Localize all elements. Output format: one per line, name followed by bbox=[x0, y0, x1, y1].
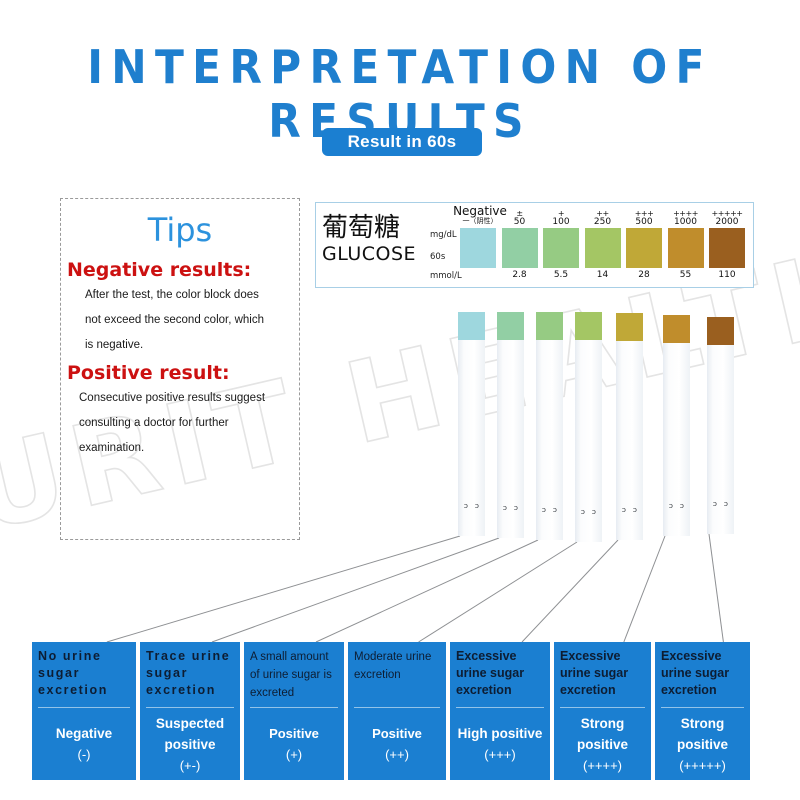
connector-line bbox=[316, 540, 538, 642]
chart-swatch-row: Negative一（阴性）±502.8+1005.5++25014+++5002… bbox=[460, 207, 748, 283]
tips-negative-line-2: not exceed the second color, which bbox=[85, 308, 289, 333]
chart-analyte-name: 葡萄糖 GLUCOSE bbox=[322, 213, 432, 265]
result-box[interactable]: Excessive urine sugar excretionHigh posi… bbox=[450, 642, 550, 780]
chart-color-swatch bbox=[626, 228, 662, 268]
chart-mgdl-value: 250 bbox=[594, 218, 611, 227]
test-strip-mark-glyph: ɔ bbox=[713, 501, 717, 508]
result-box-description: Excessive urine sugar excretion bbox=[661, 648, 744, 704]
tips-negative-body: After the test, the color block does not… bbox=[85, 283, 289, 358]
chart-mmoll-value: 55 bbox=[668, 268, 704, 282]
tips-positive-heading: Positive result: bbox=[67, 362, 299, 384]
test-strip-pad bbox=[663, 315, 690, 343]
test-strip-pad bbox=[458, 312, 485, 340]
chart-swatch-column: ++25014 bbox=[585, 207, 621, 283]
chart-row-label-mmoll: mmol/L bbox=[430, 271, 462, 281]
result-box-verdict-label: Strong positive bbox=[661, 713, 744, 755]
test-strip-pad bbox=[616, 313, 643, 341]
test-strip: ɔɔ bbox=[458, 312, 485, 536]
result-box[interactable]: Excessive urine sugar excretionStrong po… bbox=[554, 642, 651, 780]
chart-color-swatch bbox=[668, 228, 704, 268]
chart-mgdl-value: 2000 bbox=[716, 218, 739, 227]
connector-line bbox=[624, 536, 665, 642]
chart-swatch-column: Negative一（阴性） bbox=[460, 207, 496, 283]
connector-line bbox=[709, 534, 723, 642]
test-strip-mark-glyph: ɔ bbox=[669, 503, 673, 510]
result-interpretation-page: URIT HEALTHY STORE INTERPRETATION OF RES… bbox=[0, 0, 800, 800]
chart-mmoll-value: 110 bbox=[709, 268, 745, 282]
result-box-divider bbox=[661, 707, 744, 708]
test-strip-mark-glyph: ɔ bbox=[553, 507, 557, 514]
result-box-sign: (++) bbox=[385, 744, 409, 765]
test-strip-marks: ɔɔ bbox=[497, 505, 524, 512]
result-box-description: Excessive urine sugar excretion bbox=[456, 648, 544, 704]
result-box-verdict: Strong positive(+++++) bbox=[661, 712, 744, 776]
result-box-description: Excessive urine sugar excretion bbox=[560, 648, 645, 704]
result-box-verdict-label: High positive bbox=[458, 723, 543, 744]
result-box-divider bbox=[456, 707, 544, 708]
test-strip: ɔɔ bbox=[663, 315, 690, 536]
test-strip: ɔɔ bbox=[497, 312, 524, 538]
result-box-divider bbox=[560, 707, 645, 708]
chart-color-swatch bbox=[460, 228, 496, 268]
result-box-verdict-label: Negative bbox=[56, 723, 112, 744]
chart-swatch-header: ±50 bbox=[502, 207, 538, 228]
chart-analyte-name-en: GLUCOSE bbox=[322, 243, 432, 265]
chart-mmoll-value bbox=[460, 268, 496, 282]
test-strip-pad bbox=[536, 312, 563, 340]
tips-negative-heading: Negative results: bbox=[67, 259, 299, 281]
test-strip-marks: ɔɔ bbox=[575, 509, 602, 516]
tips-positive-line-2: consulting a doctor for further bbox=[79, 411, 289, 436]
result-box-sign: (-) bbox=[78, 744, 91, 765]
test-strip-marks: ɔɔ bbox=[663, 503, 690, 510]
result-box-divider bbox=[354, 707, 440, 708]
tips-panel: Tips Negative results: After the test, t… bbox=[60, 198, 300, 540]
chart-color-swatch bbox=[585, 228, 621, 268]
result-box-divider bbox=[250, 707, 338, 708]
chart-swatch-column: +++50028 bbox=[626, 207, 662, 283]
test-strip: ɔɔ bbox=[536, 312, 563, 540]
result-box-verdict: Negative(-) bbox=[38, 712, 130, 776]
result-box-description: Moderate urine excretion bbox=[354, 648, 440, 704]
result-box-sign: (++++) bbox=[583, 755, 622, 776]
test-strip: ɔɔ bbox=[616, 313, 643, 540]
result-box-verdict: Suspected positive(+-) bbox=[146, 712, 234, 776]
chart-mmoll-value: 2.8 bbox=[502, 268, 538, 282]
chart-mmoll-value: 14 bbox=[585, 268, 621, 282]
result-box-verdict: Positive(+) bbox=[250, 712, 338, 776]
test-strip: ɔɔ bbox=[707, 317, 734, 534]
glucose-color-chart: 葡萄糖 GLUCOSE mg/dL 60s mmol/L Negative一（阴… bbox=[315, 202, 754, 288]
test-strip: ɔɔ bbox=[575, 312, 602, 542]
chart-swatch-header: ++++1000 bbox=[668, 207, 704, 228]
result-box-verdict: Strong positive(++++) bbox=[560, 712, 645, 776]
tips-negative-line-1: After the test, the color block does bbox=[85, 283, 289, 308]
tips-negative-line-3: is negative. bbox=[85, 333, 289, 358]
tips-positive-line-3: examination. bbox=[79, 436, 289, 461]
chart-swatch-column: ++++100055 bbox=[668, 207, 704, 283]
result-box-sign: (+) bbox=[286, 744, 302, 765]
chart-swatch-header: ++250 bbox=[585, 207, 621, 228]
result-box-divider bbox=[146, 707, 234, 708]
chart-swatch-column: +++++2000110 bbox=[709, 207, 745, 283]
test-strip-mark-glyph: ɔ bbox=[475, 503, 479, 510]
result-box[interactable]: Moderate urine excretionPositive(++) bbox=[348, 642, 446, 780]
test-strip-mark-glyph: ɔ bbox=[633, 507, 637, 514]
result-box-verdict-label: Positive bbox=[372, 723, 422, 744]
chart-swatch-column: ±502.8 bbox=[502, 207, 538, 283]
result-box-verdict-label: Positive bbox=[269, 723, 319, 744]
result-box-description: Trace urine sugar excretion bbox=[146, 648, 234, 704]
result-box-sign: (+++++) bbox=[679, 755, 726, 776]
test-strip-marks: ɔɔ bbox=[536, 507, 563, 514]
test-strip-mark-glyph: ɔ bbox=[680, 503, 684, 510]
chart-color-swatch bbox=[709, 228, 745, 268]
chart-mmoll-value: 28 bbox=[626, 268, 662, 282]
test-strip-mark-glyph: ɔ bbox=[592, 509, 596, 516]
test-strip-mark-glyph: ɔ bbox=[724, 501, 728, 508]
chart-mgdl-value: 50 bbox=[514, 218, 525, 227]
chart-swatch-header: Negative一（阴性） bbox=[460, 207, 496, 228]
test-strip-mark-glyph: ɔ bbox=[503, 505, 507, 512]
test-strip-marks: ɔɔ bbox=[616, 507, 643, 514]
result-box-description: A small amount of urine sugar is excrete… bbox=[250, 648, 338, 704]
result-box-sign: (+-) bbox=[180, 755, 201, 776]
test-strip-marks: ɔɔ bbox=[707, 501, 734, 508]
test-strip-mark-glyph: ɔ bbox=[542, 507, 546, 514]
chart-mgdl-value: 500 bbox=[635, 218, 652, 227]
test-strip-mark-glyph: ɔ bbox=[581, 509, 585, 516]
chart-analyte-name-cn: 葡萄糖 bbox=[322, 213, 432, 243]
connector-line bbox=[419, 542, 577, 642]
test-strip-mark-glyph: ɔ bbox=[622, 507, 626, 514]
tips-heading: Tips bbox=[61, 211, 299, 249]
test-strip-pad bbox=[707, 317, 734, 345]
connector-line bbox=[212, 538, 499, 642]
result-box[interactable]: Excessive urine sugar excretionStrong po… bbox=[655, 642, 750, 780]
chart-color-swatch bbox=[543, 228, 579, 268]
chart-swatch-header: +++++2000 bbox=[709, 207, 745, 228]
result-box[interactable]: A small amount of urine sugar is excrete… bbox=[244, 642, 344, 780]
test-strip-mark-glyph: ɔ bbox=[464, 503, 468, 510]
test-strip-mark-glyph: ɔ bbox=[514, 505, 518, 512]
tips-positive-body: Consecutive positive results suggest con… bbox=[79, 386, 289, 461]
chart-mmoll-value: 5.5 bbox=[543, 268, 579, 282]
result-box-verdict: High positive(+++) bbox=[456, 712, 544, 776]
chart-row-label-time: 60s bbox=[430, 252, 445, 262]
result-box-divider bbox=[38, 707, 130, 708]
result-box[interactable]: Trace urine sugar excretionSuspected pos… bbox=[140, 642, 240, 780]
chart-row-label-mgdl: mg/dL bbox=[430, 230, 457, 240]
result-box-verdict: Positive(++) bbox=[354, 712, 440, 776]
result-box-verdict-label: Suspected positive bbox=[146, 713, 234, 755]
result-box-description: No urine sugar excretion bbox=[38, 648, 130, 704]
result-box-verdict-label: Strong positive bbox=[560, 713, 645, 755]
connector-line bbox=[107, 536, 460, 642]
chart-swatch-header: +100 bbox=[543, 207, 579, 228]
chart-swatch-column: +1005.5 bbox=[543, 207, 579, 283]
test-strip-marks: ɔɔ bbox=[458, 503, 485, 510]
chart-mgdl-value: 1000 bbox=[674, 218, 697, 227]
test-strip-pad bbox=[497, 312, 524, 340]
result-time-badge: Result in 60s bbox=[322, 128, 482, 156]
chart-color-swatch bbox=[502, 228, 538, 268]
tips-positive-line-1: Consecutive positive results suggest bbox=[79, 386, 289, 411]
result-box[interactable]: No urine sugar excretionNegative(-) bbox=[32, 642, 136, 780]
test-strip-pad bbox=[575, 312, 602, 340]
result-box-sign: (+++) bbox=[484, 744, 515, 765]
connector-line bbox=[522, 540, 618, 642]
chart-mgdl-value: 100 bbox=[552, 218, 569, 227]
chart-swatch-header: +++500 bbox=[626, 207, 662, 228]
